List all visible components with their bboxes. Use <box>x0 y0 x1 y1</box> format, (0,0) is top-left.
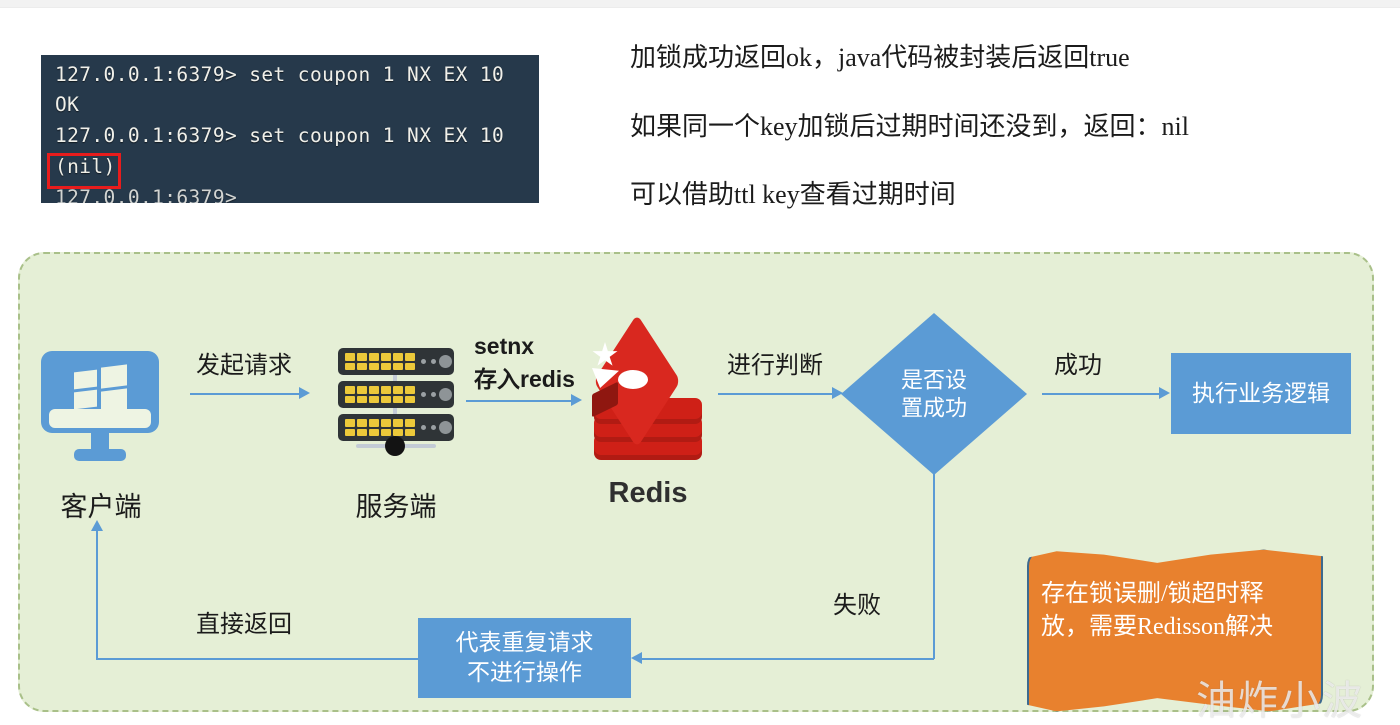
monitor-stand <box>74 449 126 461</box>
decision-diamond: 是否设 置成功 <box>841 313 1027 475</box>
edge-label-fail: 失败 <box>833 585 881 620</box>
monitor-base-strip <box>49 409 151 428</box>
notes-block: 加锁成功返回ok，java代码被封装后返回true 如果同一个key加锁后过期时… <box>630 44 1370 250</box>
arrow-judge-line <box>718 393 833 395</box>
rack-leds-2 <box>345 386 415 403</box>
redis-label: Redis <box>584 477 712 510</box>
edge-label-direct-return: 直接返回 <box>196 604 292 639</box>
warning-ribbon-text: 存在锁误删/锁超时释放，需要Redisson解决 <box>1041 578 1309 643</box>
redis-logo-icon <box>592 342 704 460</box>
top-strip <box>0 0 1400 8</box>
arrow-return-head <box>91 520 103 531</box>
execute-business-box: 执行业务逻辑 <box>1171 353 1351 434</box>
arrow-fail-horizontal <box>640 658 934 660</box>
edge-label-success: 成功 <box>1054 345 1102 380</box>
client-monitor-icon <box>41 351 159 461</box>
client-label: 客户端 <box>40 485 162 524</box>
rack-leds-1 <box>345 353 415 370</box>
rack-unit-1 <box>338 348 454 375</box>
windows-pane-1 <box>74 370 97 390</box>
arrow-return-vertical <box>96 530 98 659</box>
arrow-setnx-line <box>466 400 572 402</box>
arrow-setnx-head <box>571 394 582 406</box>
nil-highlight-box <box>47 153 121 189</box>
note-line-3: 可以借助ttl key查看过期时间 <box>630 181 1370 210</box>
slide-canvas: 127.0.0.1:6379> set coupon 1 NX EX 10 OK… <box>0 0 1400 725</box>
windows-pane-2 <box>101 364 127 388</box>
arrow-request-line <box>190 393 300 395</box>
arrow-success-head <box>1159 387 1170 399</box>
terminal-line-1: 127.0.0.1:6379> set coupon 1 NX EX 10 <box>55 63 504 86</box>
server-label: 服务端 <box>330 485 462 524</box>
edge-label-setnx-1: setnx <box>474 333 534 360</box>
note-line-1: 加锁成功返回ok，java代码被封装后返回true <box>630 44 1370 73</box>
note-line-2: 如果同一个key加锁后过期时间还没到，返回：nil <box>630 113 1370 142</box>
decision-line-1: 是否设 <box>841 366 1027 394</box>
redis-ellipse-mark <box>618 370 648 389</box>
arrow-return-horizontal <box>96 658 418 660</box>
rack-leds-3 <box>345 419 415 436</box>
rack-unit-2 <box>338 381 454 408</box>
arrow-request-head <box>299 387 310 399</box>
arrow-success-line <box>1042 393 1160 395</box>
terminal-line-2: OK <box>55 93 79 116</box>
windows-pane-3 <box>74 390 97 410</box>
edge-label-judge: 进行判断 <box>727 345 823 380</box>
decision-diamond-text: 是否设 置成功 <box>841 366 1027 421</box>
duplicate-request-line-2: 不进行操作 <box>456 658 594 688</box>
watermark: 油炸小波 <box>1196 668 1364 725</box>
arrow-fail-head <box>631 652 642 664</box>
edge-label-setnx-2: 存入redis <box>474 360 575 394</box>
duplicate-request-box: 代表重复请求 不进行操作 <box>418 618 631 698</box>
rack-connector-knob <box>385 436 405 456</box>
server-rack-icon <box>338 348 454 463</box>
windows-logo-icon <box>72 365 128 409</box>
monitor-screen <box>41 351 159 433</box>
arrow-fail-vertical <box>933 474 935 659</box>
decision-line-2: 置成功 <box>841 394 1027 422</box>
edge-label-request: 发起请求 <box>196 345 292 380</box>
terminal-line-3: 127.0.0.1:6379> set coupon 1 NX EX 10 <box>55 124 504 147</box>
duplicate-request-line-1: 代表重复请求 <box>456 628 594 658</box>
